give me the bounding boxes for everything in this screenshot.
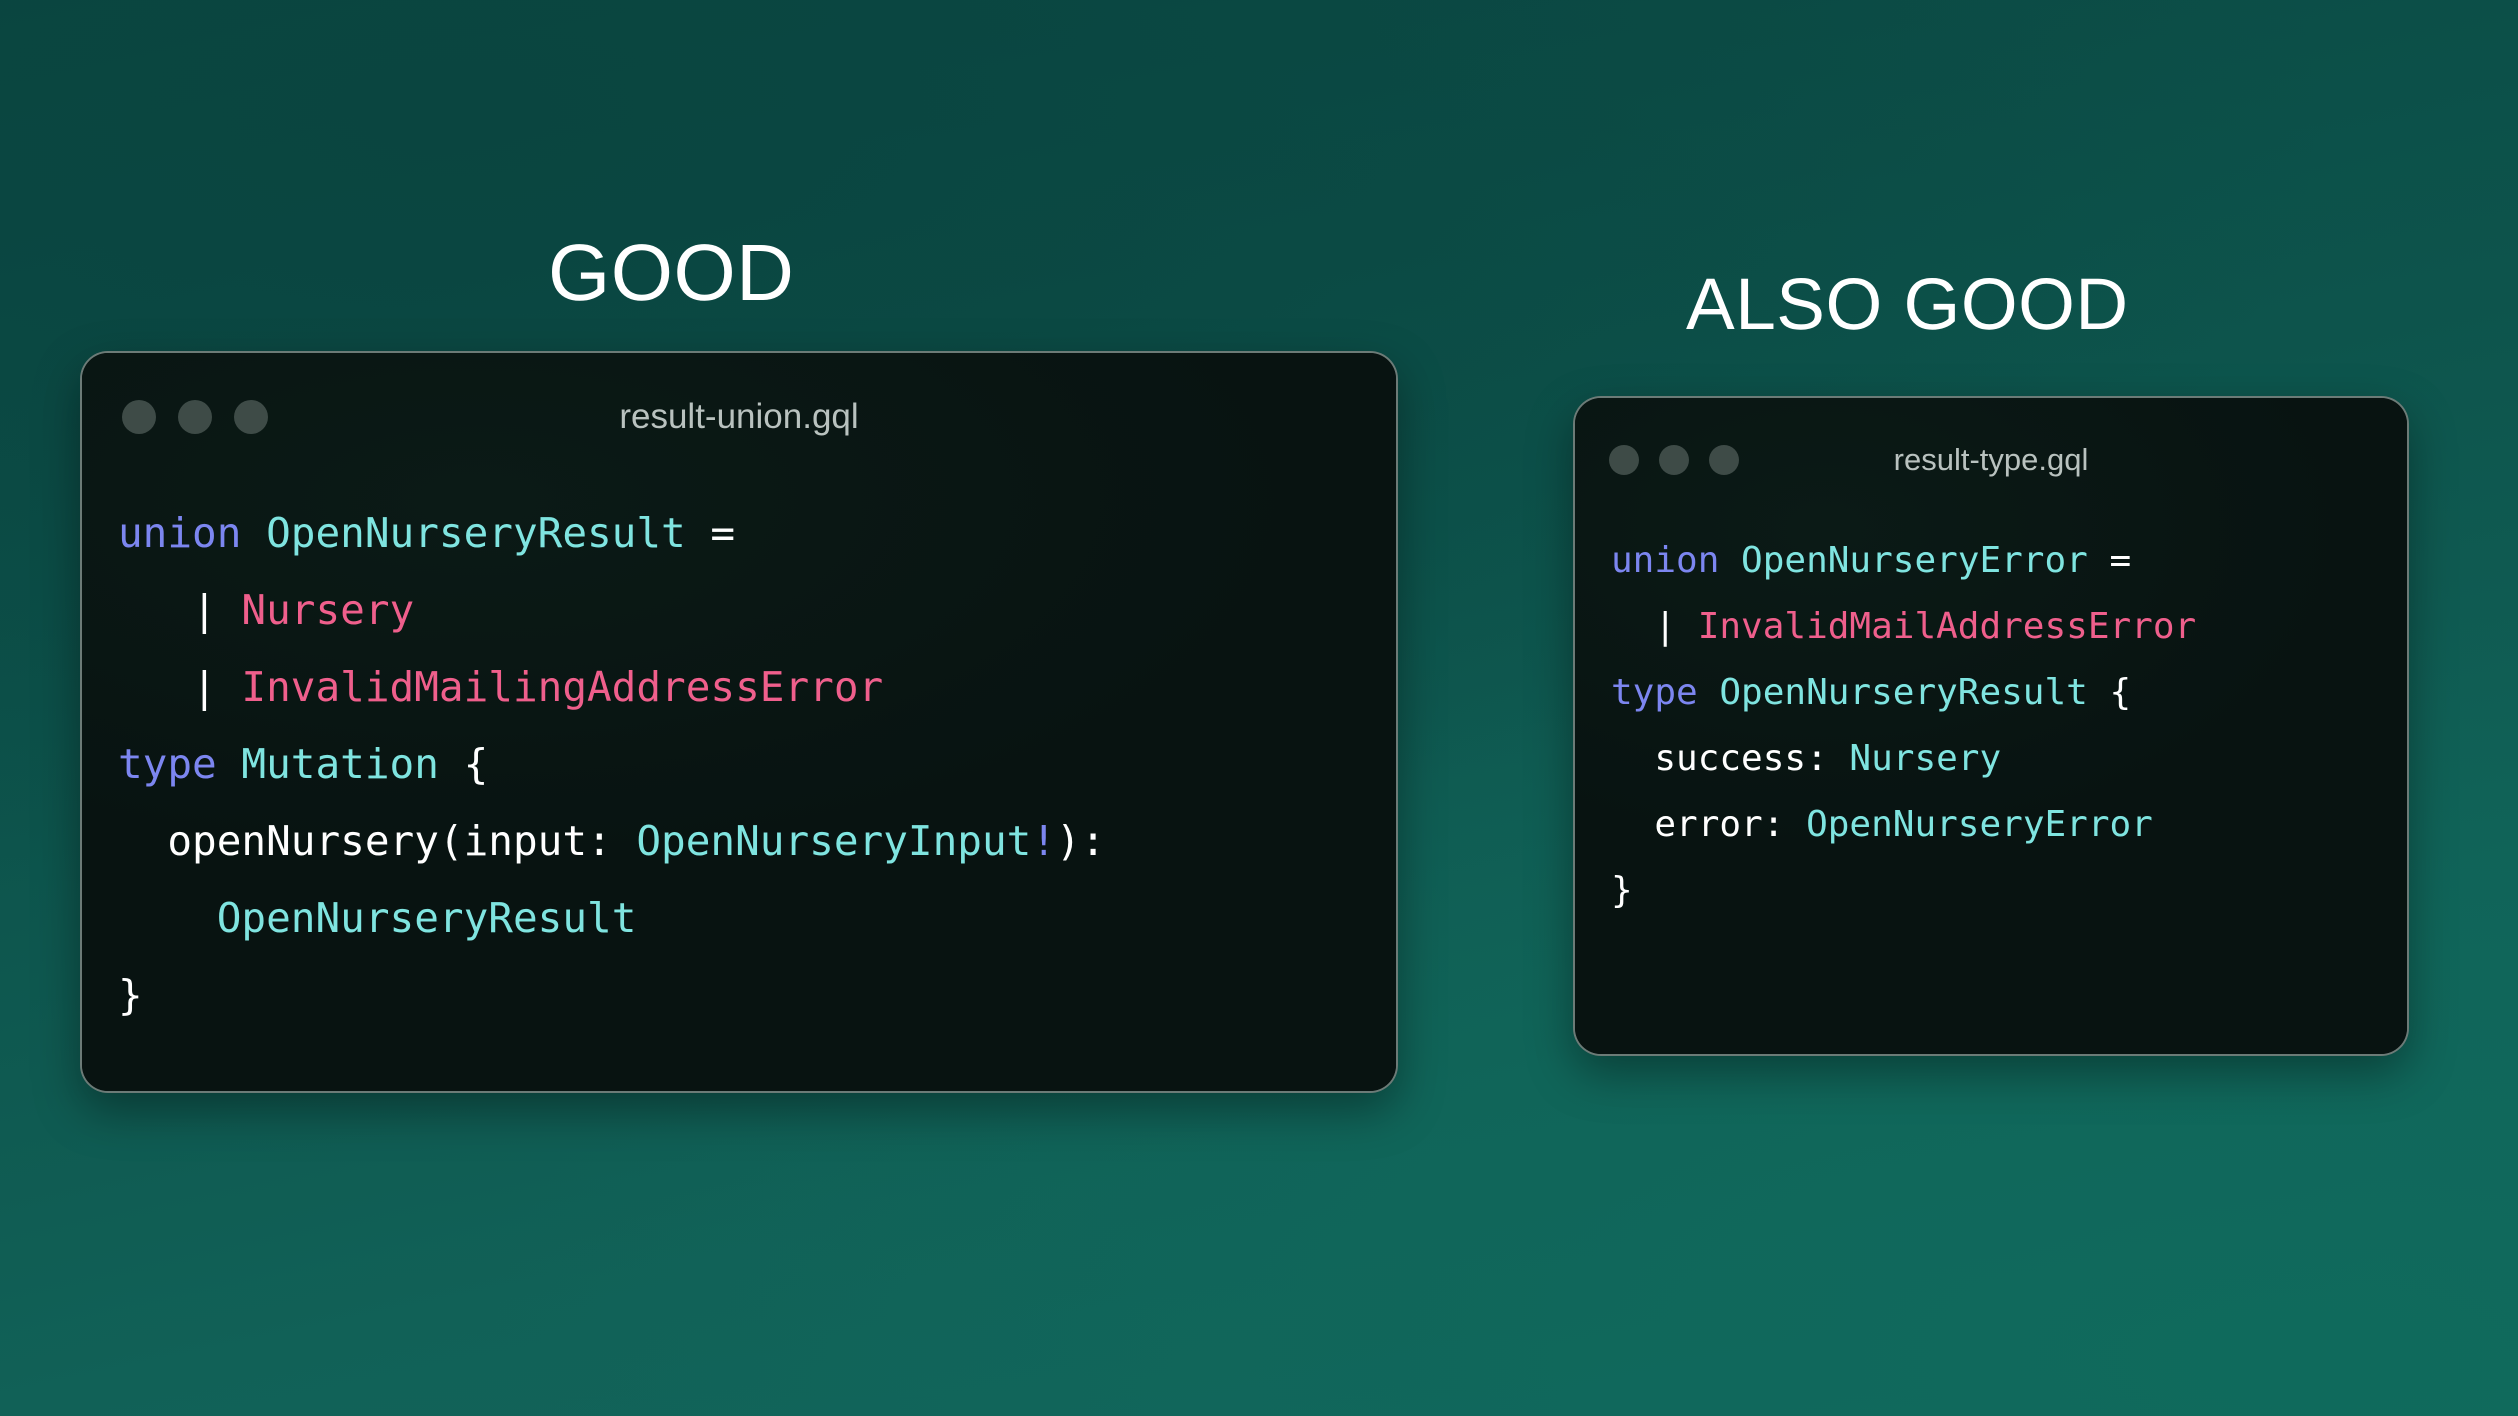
code-token-type: OpenNurseryResult [217, 894, 637, 942]
code-token-pl: | [118, 586, 241, 634]
panel-heading-good: GOOD [548, 233, 794, 313]
code-block-result-type: union OpenNurseryError = | InvalidMailAd… [1575, 522, 2407, 924]
code-token-pl: { [2088, 672, 2131, 713]
code-line: success: Nursery [1611, 726, 2407, 792]
code-token-pl: | [1611, 606, 1698, 647]
code-line: } [118, 957, 1396, 1034]
code-token-pl: success: [1611, 738, 1849, 779]
code-token-pl: openNursery(input: [118, 817, 636, 865]
minimize-dot-icon[interactable] [178, 400, 212, 434]
code-token-pl [118, 894, 217, 942]
code-line: type OpenNurseryResult { [1611, 660, 2407, 726]
code-token-type: OpenNurseryError [1806, 804, 2153, 845]
code-token-pl: } [118, 971, 143, 1019]
code-token-pl: | [118, 663, 241, 711]
code-token-type: OpenNurseryResult [1719, 672, 2087, 713]
code-window-body: result-type.gql union OpenNurseryError =… [1575, 398, 2407, 1054]
code-token-kw: type [1611, 672, 1719, 713]
code-token-type: OpenNurseryError [1741, 540, 2088, 581]
code-window-also-good: result-type.gql union OpenNurseryError =… [1573, 396, 2409, 1056]
panel-heading-also-good: ALSO GOOD [1686, 268, 2129, 341]
close-dot-icon[interactable] [122, 400, 156, 434]
window-titlebar: result-union.gql [82, 353, 1396, 481]
code-token-pl: = [686, 509, 735, 557]
code-token-kw: union [118, 509, 266, 557]
code-token-pl: } [1611, 870, 1633, 911]
code-token-pl: error: [1611, 804, 1806, 845]
code-line: error: OpenNurseryError [1611, 792, 2407, 858]
code-token-err: InvalidMailingAddressError [241, 663, 883, 711]
window-titlebar: result-type.gql [1575, 398, 2407, 522]
code-line: | InvalidMailAddressError [1611, 594, 2407, 660]
code-block-result-union: union OpenNurseryResult = | Nursery | In… [82, 481, 1396, 1034]
code-line: | Nursery [118, 572, 1396, 649]
window-controls[interactable] [122, 400, 268, 434]
maximize-dot-icon[interactable] [234, 400, 268, 434]
code-token-kw: type [118, 740, 241, 788]
code-line: openNursery(input: OpenNurseryInput!): [118, 803, 1396, 880]
code-token-pl: = [2088, 540, 2131, 581]
maximize-dot-icon[interactable] [1709, 445, 1739, 475]
code-token-type: Nursery [1849, 738, 2001, 779]
code-line: union OpenNurseryResult = [118, 495, 1396, 572]
minimize-dot-icon[interactable] [1659, 445, 1689, 475]
code-line: type Mutation { [118, 726, 1396, 803]
code-token-pl: { [439, 740, 488, 788]
window-filename: result-union.gql [82, 397, 1396, 437]
code-window-body: result-union.gql union OpenNurseryResult… [82, 353, 1396, 1091]
code-token-kw: ! [1031, 817, 1056, 865]
code-window-good: result-union.gql union OpenNurseryResult… [80, 351, 1398, 1093]
code-line: | InvalidMailingAddressError [118, 649, 1396, 726]
code-token-type: Mutation [241, 740, 438, 788]
code-line: union OpenNurseryError = [1611, 528, 2407, 594]
code-line: } [1611, 858, 2407, 924]
code-token-kw: union [1611, 540, 1741, 581]
code-line: OpenNurseryResult [118, 880, 1396, 957]
code-token-pl: ): [1056, 817, 1105, 865]
code-token-type: OpenNurseryInput [636, 817, 1031, 865]
close-dot-icon[interactable] [1609, 445, 1639, 475]
code-token-type: OpenNurseryResult [266, 509, 686, 557]
window-controls[interactable] [1609, 445, 1739, 475]
code-token-err: InvalidMailAddressError [1698, 606, 2197, 647]
code-token-err: Nursery [241, 586, 414, 634]
